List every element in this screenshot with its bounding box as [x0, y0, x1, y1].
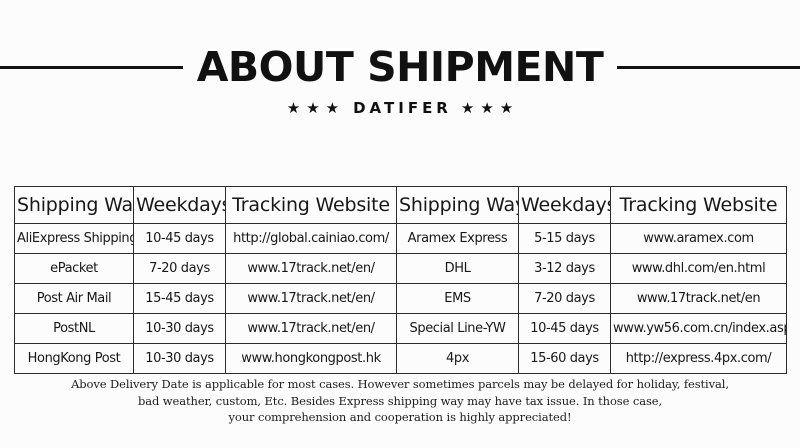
cell-weekdays: 15-45 days: [134, 284, 226, 314]
column-header-weekdays-left: Weekdays: [134, 187, 226, 224]
cell-weekdays: 10-30 days: [134, 344, 226, 374]
disclaimer-line-2: bad weather, custom, Etc. Besides Expres…: [0, 393, 800, 410]
cell-shipping-way: Special Line-YW: [397, 314, 519, 344]
brand-row: ★ ★ ★ DATIFER ★ ★ ★: [0, 98, 800, 118]
table-row: AliExpress Shipping 10-45 days http://gl…: [15, 224, 787, 254]
cell-shipping-way: 4px: [397, 344, 519, 374]
cell-weekdays: 10-45 days: [134, 224, 226, 254]
banner-header: ABOUT SHIPMENT ★ ★ ★ DATIFER ★ ★ ★: [0, 44, 800, 118]
cell-tracking-website: www.17track.net/en/: [226, 314, 397, 344]
title-rule-left: [0, 66, 183, 69]
cell-shipping-way: EMS: [397, 284, 519, 314]
cell-shipping-way: DHL: [397, 254, 519, 284]
cell-tracking-website: www.yw56.com.cn/index.aspx: [611, 314, 787, 344]
table-row: Post Air Mail 15-45 days www.17track.net…: [15, 284, 787, 314]
cell-tracking-website: http://global.cainiao.com/: [226, 224, 397, 254]
cell-shipping-way: HongKong Post: [15, 344, 134, 374]
star-icon: ★: [287, 101, 300, 116]
cell-tracking-website: www.aramex.com: [611, 224, 787, 254]
table-row: ePacket 7-20 days www.17track.net/en/ DH…: [15, 254, 787, 284]
cell-tracking-website: http://express.4px.com/: [611, 344, 787, 374]
star-icon: ★: [306, 101, 319, 116]
cell-weekdays: 3-12 days: [519, 254, 611, 284]
shipping-methods-table: Shipping Way Weekdays Tracking Website S…: [14, 186, 787, 374]
cell-shipping-way: Post Air Mail: [15, 284, 134, 314]
column-header-shipping-way-left: Shipping Way: [15, 187, 134, 224]
star-icon: ★: [326, 101, 339, 116]
cell-weekdays: 7-20 days: [134, 254, 226, 284]
column-header-shipping-way-right: Shipping Way: [397, 187, 519, 224]
cell-shipping-way: Aramex Express: [397, 224, 519, 254]
star-icon: ★: [480, 101, 493, 116]
cell-shipping-way: PostNL: [15, 314, 134, 344]
table-header-row: Shipping Way Weekdays Tracking Website S…: [15, 187, 787, 224]
table-row: PostNL 10-30 days www.17track.net/en/ Sp…: [15, 314, 787, 344]
shipment-info-banner: ABOUT SHIPMENT ★ ★ ★ DATIFER ★ ★ ★ Shipp…: [0, 0, 800, 448]
table-row: HongKong Post 10-30 days www.hongkongpos…: [15, 344, 787, 374]
cell-tracking-website: www.hongkongpost.hk: [226, 344, 397, 374]
cell-shipping-way: ePacket: [15, 254, 134, 284]
star-icon: ★: [461, 101, 474, 116]
brand-name: DATIFER: [351, 101, 452, 116]
column-header-tracking-website-left: Tracking Website: [226, 187, 397, 224]
column-header-weekdays-right: Weekdays: [519, 187, 611, 224]
shipping-table-container: Shipping Way Weekdays Tracking Website S…: [14, 186, 786, 374]
disclaimer-line-1: Above Delivery Date is applicable for mo…: [0, 376, 800, 393]
star-icon: ★: [500, 101, 513, 116]
disclaimer-line-3: your comprehension and cooperation is hi…: [0, 409, 800, 426]
cell-weekdays: 10-45 days: [519, 314, 611, 344]
title-row: ABOUT SHIPMENT: [0, 44, 800, 90]
cell-weekdays: 5-15 days: [519, 224, 611, 254]
column-header-tracking-website-right: Tracking Website: [611, 187, 787, 224]
cell-tracking-website: www.17track.net/en/: [226, 254, 397, 284]
delivery-disclaimer: Above Delivery Date is applicable for mo…: [0, 376, 800, 426]
cell-shipping-way: AliExpress Shipping: [15, 224, 134, 254]
cell-tracking-website: www.dhl.com/en.html: [611, 254, 787, 284]
cell-tracking-website: www.17track.net/en: [611, 284, 787, 314]
cell-weekdays: 7-20 days: [519, 284, 611, 314]
page-title: ABOUT SHIPMENT: [197, 45, 604, 89]
cell-tracking-website: www.17track.net/en/: [226, 284, 397, 314]
cell-weekdays: 15-60 days: [519, 344, 611, 374]
title-rule-right: [617, 66, 800, 69]
cell-weekdays: 10-30 days: [134, 314, 226, 344]
